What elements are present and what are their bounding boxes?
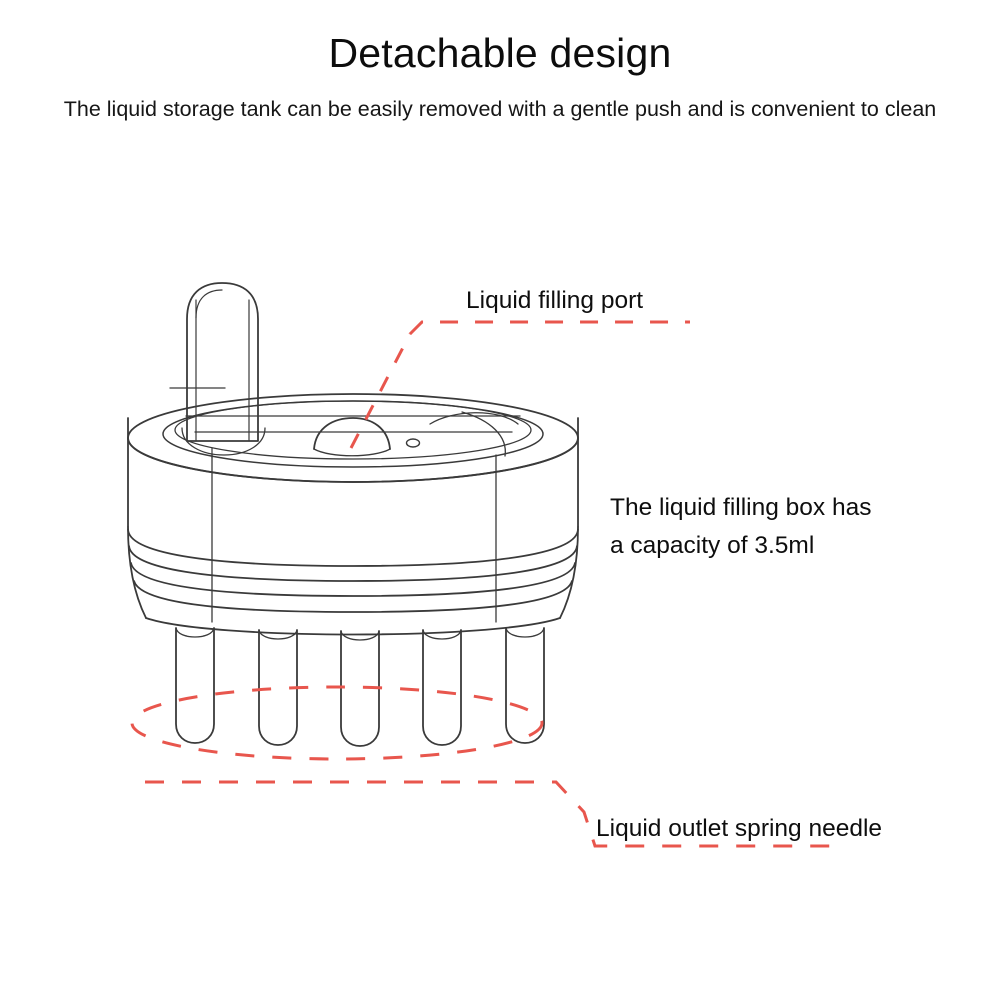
callout-line-filling-port [351,322,690,448]
inner-recess-detail [430,412,518,456]
callout-ellipse-spring-needle [132,687,542,759]
tank-body [128,418,578,635]
product-diagram-page: Detachable design The liquid storage tan… [0,0,1000,1000]
spring-needle-pins [176,628,544,746]
callout-label-capacity-line-2: a capacity of 3.5ml [610,527,940,565]
callout-label-liquid-outlet-spring-needle: Liquid outlet spring needle [596,812,882,845]
dome-filling-port [314,418,390,456]
callout-label-liquid-filling-port: Liquid filling port [466,284,643,317]
callout-label-capacity-line-1: The liquid filling box has [610,489,940,527]
vent-hole [407,439,420,447]
callout-label-capacity: The liquid filling box has a capacity of… [610,489,940,565]
ridge-bands [128,455,578,622]
